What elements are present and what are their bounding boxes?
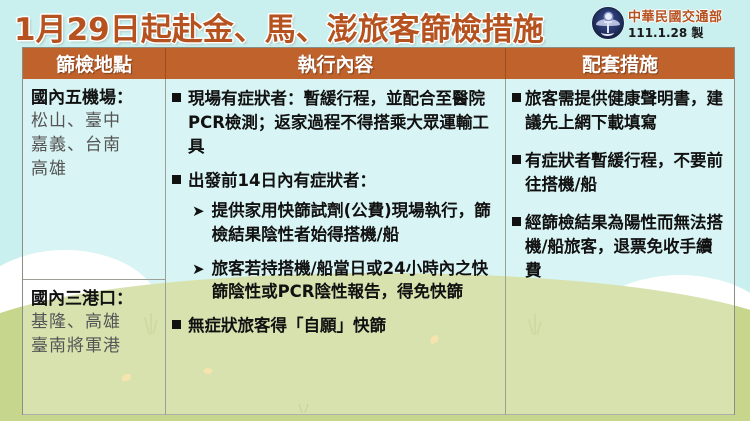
table-header-row: 篩檢地點 執行內容 配套措施	[23, 48, 734, 79]
table-body: 國內五機場： 松山、臺中 嘉義、台南 高雄 國內三港口： 基隆、高雄 臺南將軍港…	[23, 79, 734, 415]
measure-bullet: 旅客需提供健康聲明書，建議先上網下載填寫	[512, 87, 728, 135]
column-header-location: 篩檢地點	[23, 48, 166, 79]
location-line: 松山、臺中	[31, 110, 159, 134]
procedure-column: 現場有症狀者：暫緩行程，並配合至醫院PCR檢測；返家過程不得搭乘大眾運輸工具 出…	[166, 79, 506, 415]
measure-text: 經篩檢結果為陽性而無法搭機/船旅客，退票免收手續費	[525, 211, 728, 283]
poster: 1月29日起赴金、馬、澎旅客篩檢措施 中華民國交通部 111.1.28 製 篩檢…	[0, 0, 750, 421]
location-line: 高雄	[31, 158, 159, 182]
location-column: 國內五機場： 松山、臺中 嘉義、台南 高雄 國內三港口： 基隆、高雄 臺南將軍港	[23, 79, 166, 415]
location-line: 嘉義、台南	[31, 134, 159, 158]
agency-name: 中華民國交通部	[628, 6, 723, 25]
procedure-text: 出發前14日內有症狀者：	[188, 169, 376, 193]
motc-emblem-icon	[592, 7, 624, 39]
location-heading: 國內三港口：	[31, 288, 159, 311]
location-line: 基隆、高雄	[31, 311, 159, 335]
square-bullet-icon	[512, 93, 521, 102]
procedure-subitem: ➤ 旅客若持搭機/船當日或24小時內之快篩陰性或PCR陰性報告，得免快篩	[192, 257, 499, 305]
procedure-subitem: ➤ 提供家用快篩試劑(公費)現場執行，篩檢結果陰性者始得搭機/船	[192, 199, 499, 247]
procedure-subitem-text: 旅客若持搭機/船當日或24小時內之快篩陰性或PCR陰性報告，得免快篩	[212, 257, 499, 305]
title-bar: 1月29日起赴金、馬、澎旅客篩檢措施 中華民國交通部 111.1.28 製	[0, 0, 750, 46]
location-line: 臺南將軍港	[31, 335, 159, 359]
measure-text: 有症狀者暫緩行程，不要前往搭機/船	[525, 149, 728, 197]
measures-table: 篩檢地點 執行內容 配套措施 國內五機場： 松山、臺中 嘉義、台南 高雄 國內三…	[22, 47, 735, 415]
square-bullet-icon	[512, 155, 521, 164]
procedure-subitem-text: 提供家用快篩試劑(公費)現場執行，篩檢結果陰性者始得搭機/船	[212, 199, 499, 247]
square-bullet-icon	[172, 93, 181, 102]
square-bullet-icon	[512, 217, 521, 226]
measure-bullet: 經篩檢結果為陽性而無法搭機/船旅客，退票免收手續費	[512, 211, 728, 283]
procedure-bullet: 現場有症狀者：暫緩行程，並配合至醫院PCR檢測；返家過程不得搭乘大眾運輸工具	[172, 87, 499, 158]
column-header-procedure: 執行內容	[166, 48, 506, 79]
location-cell-ports: 國內三港口： 基隆、高雄 臺南將軍港	[23, 280, 165, 415]
agency-block: 中華民國交通部 111.1.28 製	[592, 2, 750, 44]
measure-text: 旅客需提供健康聲明書，建議先上網下載填寫	[525, 87, 728, 135]
measures-column: 旅客需提供健康聲明書，建議先上網下載填寫 有症狀者暫緩行程，不要前往搭機/船 經…	[506, 79, 734, 415]
procedure-bullet: 出發前14日內有症狀者：	[172, 169, 499, 193]
location-heading: 國內五機場：	[31, 87, 159, 110]
page-title: 1月29日起赴金、馬、澎旅客篩檢措施	[14, 4, 544, 49]
square-bullet-icon	[172, 175, 181, 184]
location-cell-airports: 國內五機場： 松山、臺中 嘉義、台南 高雄	[23, 79, 165, 280]
procedure-text: 無症狀旅客得「自願」快篩	[188, 314, 386, 338]
column-header-measures: 配套措施	[506, 48, 734, 79]
measure-bullet: 有症狀者暫緩行程，不要前往搭機/船	[512, 149, 728, 197]
arrow-bullet-icon: ➤	[192, 202, 205, 220]
procedure-bullet: 無症狀旅客得「自願」快篩	[172, 314, 499, 338]
arrow-bullet-icon: ➤	[192, 260, 205, 278]
square-bullet-icon	[172, 320, 181, 329]
procedure-text: 現場有症狀者：暫緩行程，並配合至醫院PCR檢測；返家過程不得搭乘大眾運輸工具	[188, 87, 499, 158]
agency-date: 111.1.28 製	[628, 24, 703, 41]
